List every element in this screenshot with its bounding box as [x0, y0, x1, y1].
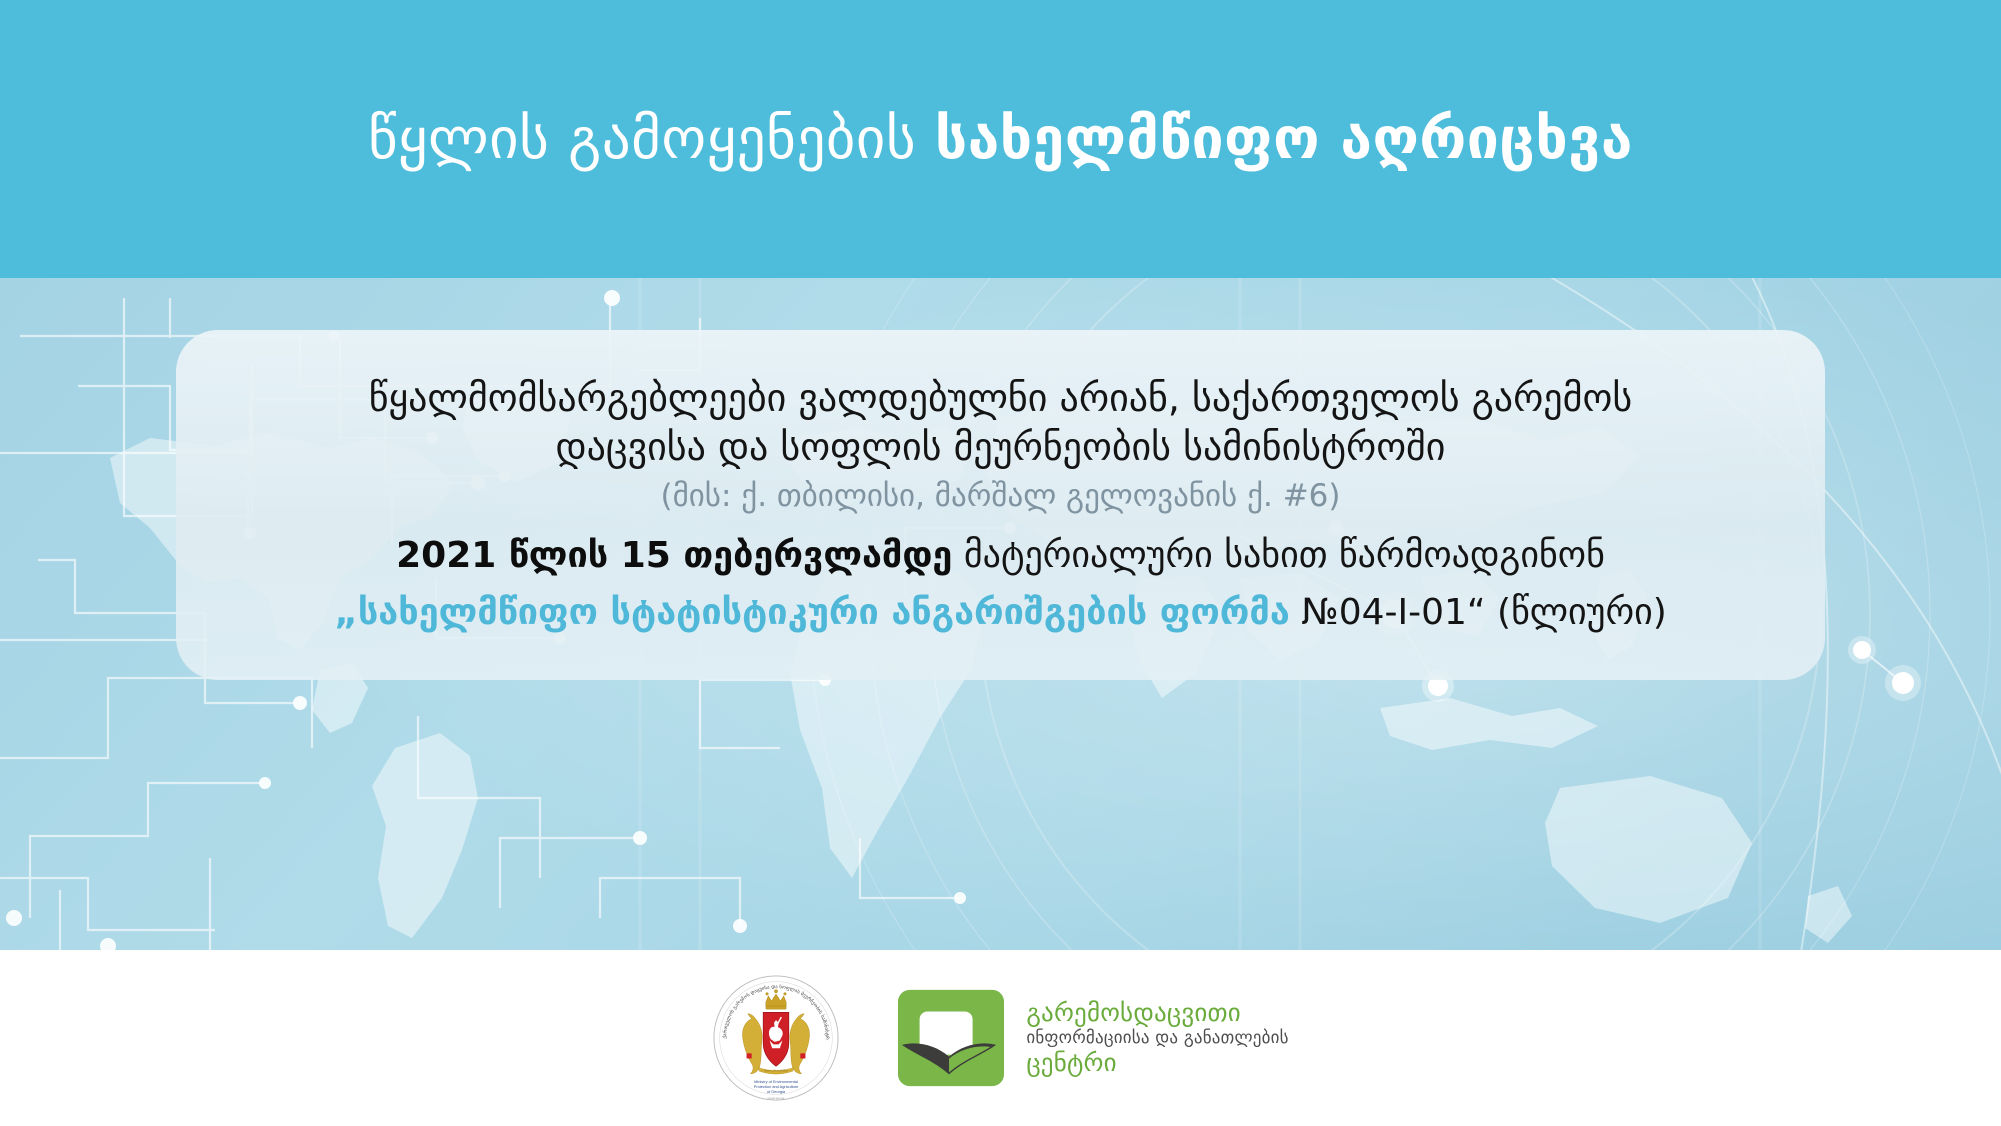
deadline-text: მატერიალური სახით წარმოადგინონ	[952, 535, 1604, 576]
header-band: წყლის გამოყენების სახელმწიფო აღრიცხვა	[0, 0, 2001, 278]
eiec-logo: გარემოსდაცვითი ინფორმაციისა და განათლები…	[892, 984, 1288, 1092]
deadline-date: 2021 წლის 15 თებერვლამდე	[396, 535, 952, 576]
card-deadline: 2021 წლის 15 თებერვლამდე მატერიალური სახ…	[236, 533, 1765, 580]
form-name-accent: „სახელმწიფო სტატისტიკური ანგარიშგების ფო…	[334, 592, 1290, 633]
card-address: (მის: ქ. თბილისი, მარშალ გელოვანის ქ. #6…	[236, 476, 1765, 516]
ministry-seal-logo: საქართველოს გარემოს დაცვისა და სოფლის მე…	[712, 974, 840, 1102]
page-title-light: წყლის გამოყენების	[368, 106, 935, 172]
eiec-line-1: გარემოსდაცვითი	[1026, 998, 1288, 1028]
footer-band: საქართველოს გარემოს დაცვისა და სოფლის მე…	[0, 950, 2001, 1126]
seal-motto: ძალა ერთობაშია	[765, 1069, 789, 1073]
card-line-1: წყალმომსარგებლეები ვალდებულნი არიან, საქ…	[236, 374, 1765, 423]
seal-latin-line1: Ministry of Environmental	[754, 1079, 798, 1084]
poster-root: წყლის გამოყენების სახელმწიფო აღრიცხვა	[0, 0, 2001, 1126]
eiec-mark-icon	[892, 984, 1010, 1092]
eiec-wordmark: გარემოსდაცვითი ინფორმაციისა და განათლები…	[1026, 998, 1288, 1077]
seal-latin-line2: Protection and Agriculture	[754, 1084, 799, 1089]
page-title: წყლის გამოყენების სახელმწიფო აღრიცხვა	[368, 111, 1633, 168]
card-line-2: დაცვისა და სოფლის მეურნეობის სამინისტროშ…	[236, 423, 1765, 472]
page-title-bold: სახელმწიფო აღრიცხვა	[935, 106, 1633, 172]
eiec-line-3: ცენტრი	[1026, 1048, 1288, 1078]
seal-latin-line3: of Georgia	[767, 1089, 786, 1094]
card-form-reference: „სახელმწიფო სტატისტიკური ანგარიშგების ფო…	[236, 590, 1765, 637]
eiec-line-2: ინფორმაციისა და განათლების	[1026, 1028, 1288, 1048]
seal-url: mepa.gov.ge	[768, 1096, 785, 1100]
form-number: №04-I-01“ (წლიური)	[1290, 592, 1667, 633]
content-card: წყალმომსარგებლეები ვალდებულნი არიან, საქ…	[176, 330, 1825, 680]
main-band: წყალმომსარგებლეები ვალდებულნი არიან, საქ…	[0, 278, 2001, 950]
